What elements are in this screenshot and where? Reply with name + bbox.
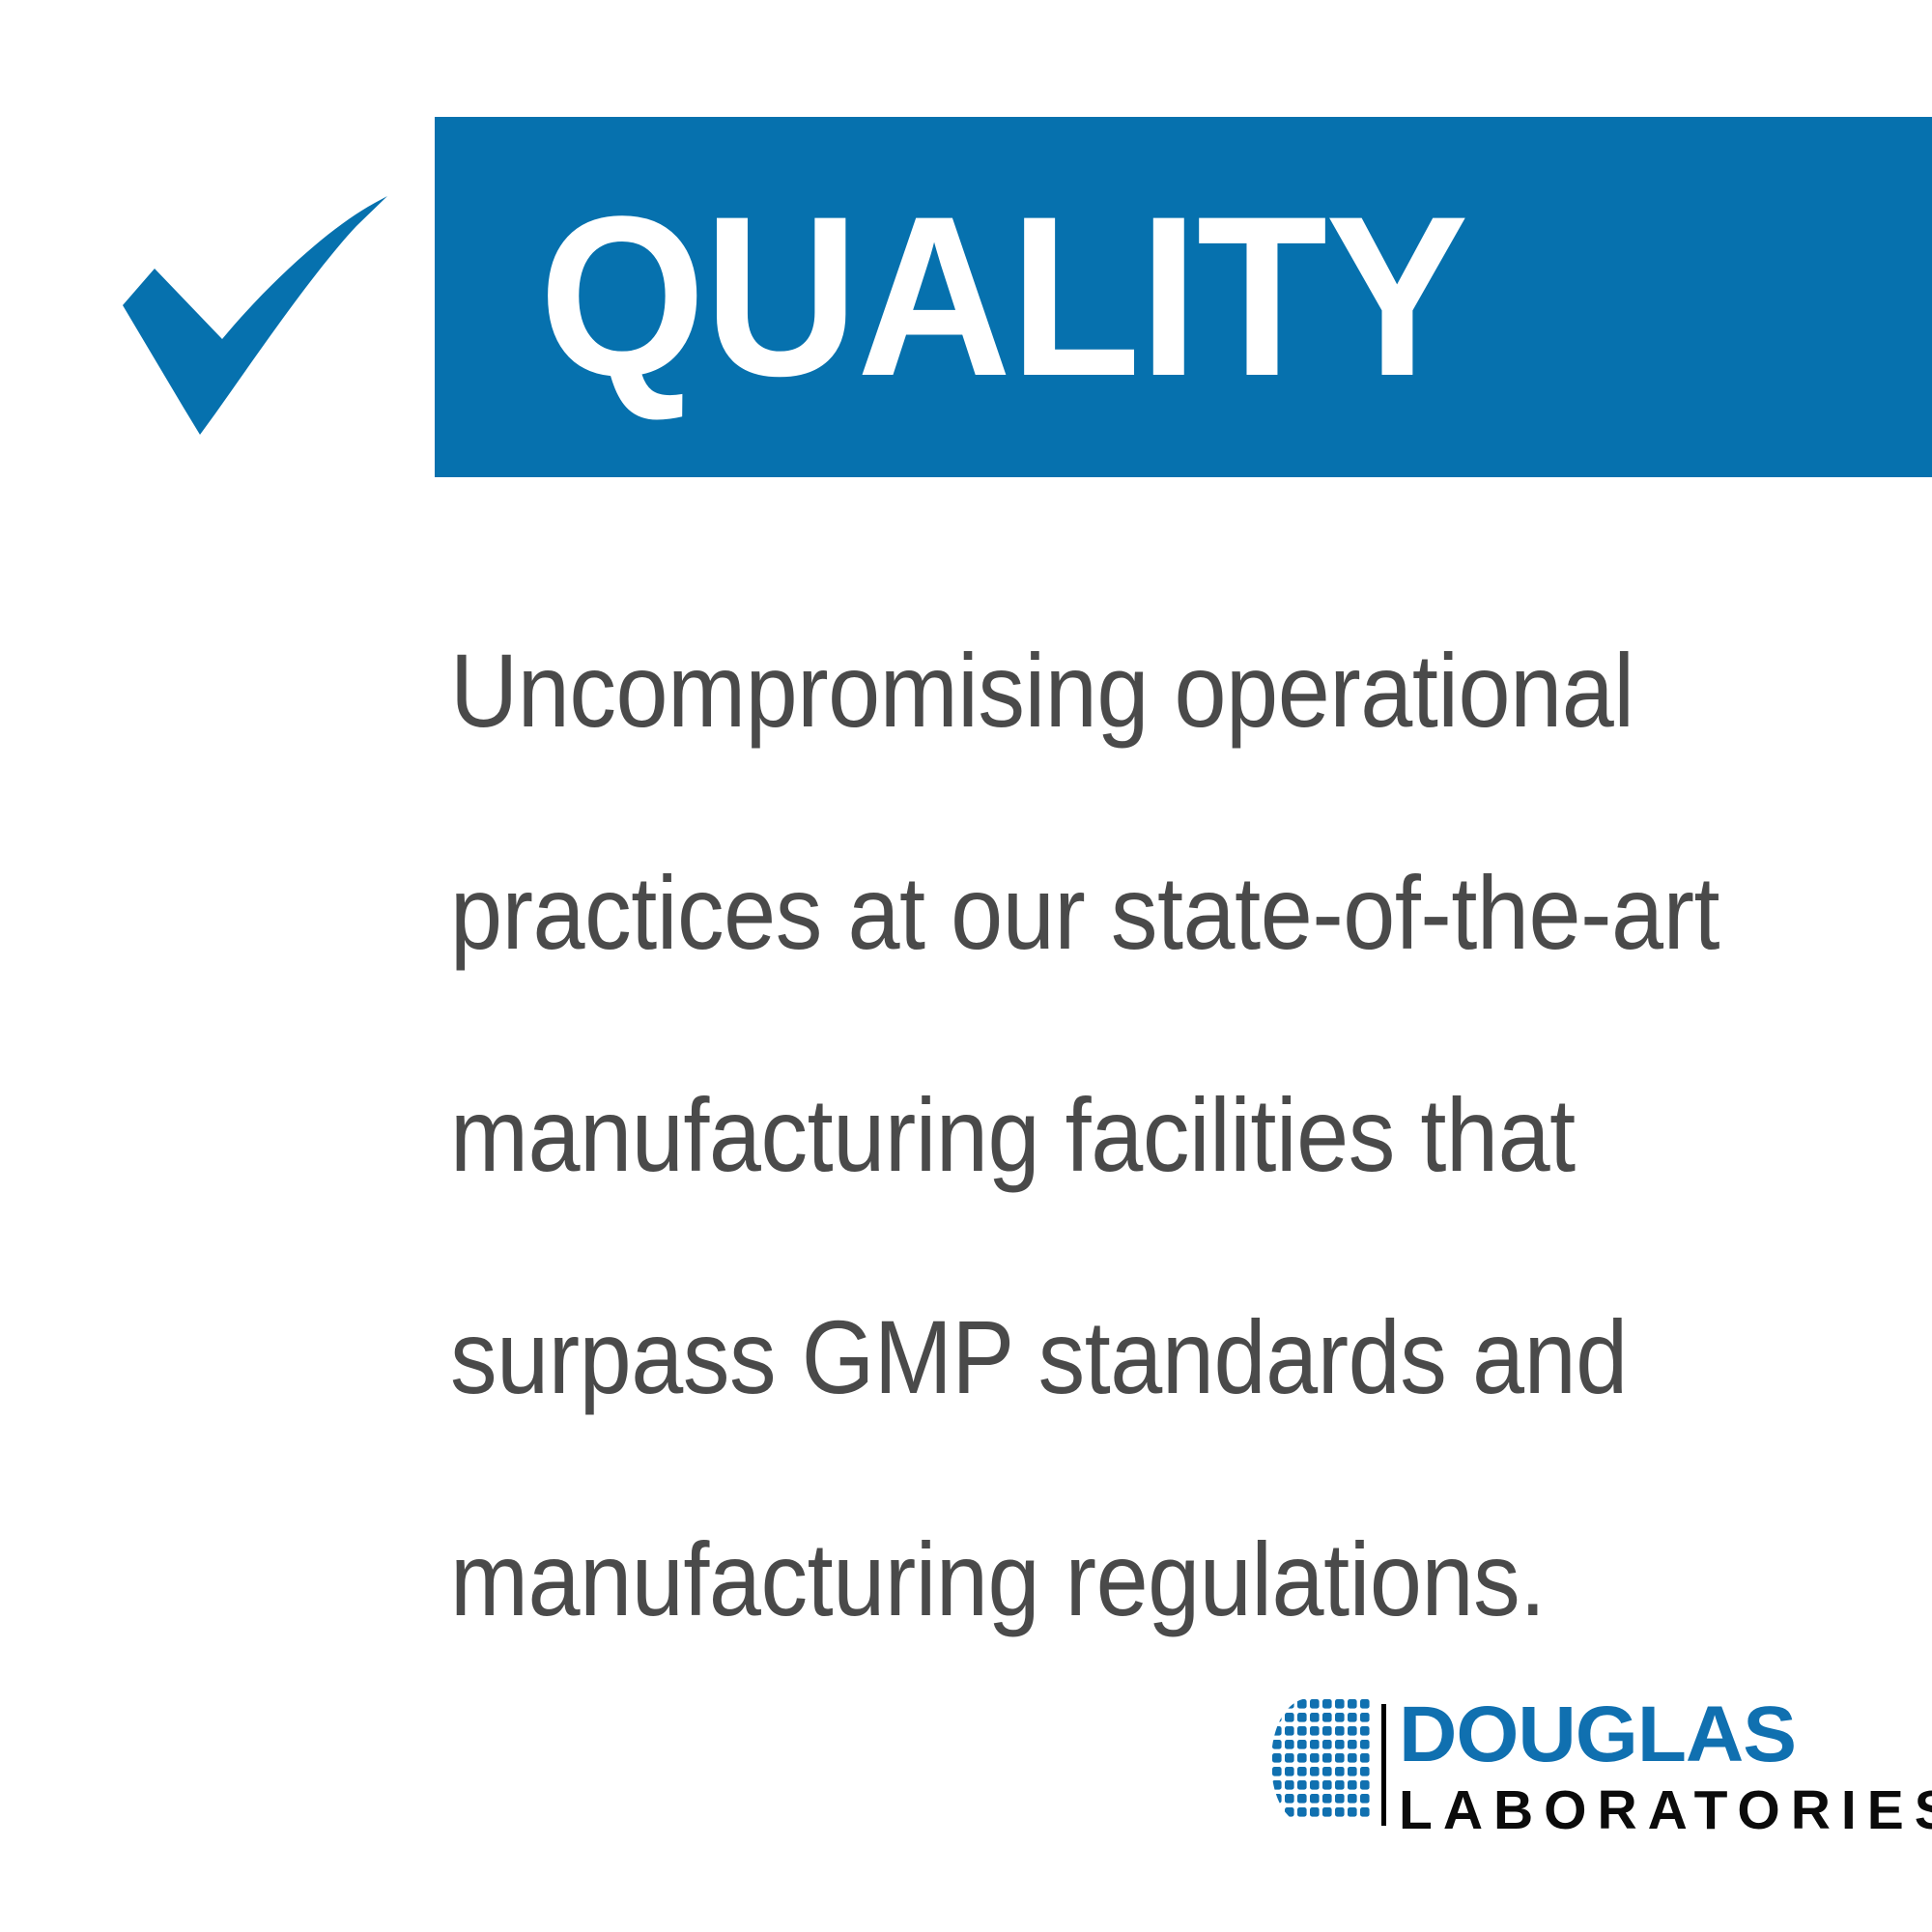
quality-banner: QUALITY <box>435 117 1932 477</box>
logo-wordmark: DOUGLAS LABORATORIES® <box>1399 1698 1932 1838</box>
body-line-3: manufacturing facilities that <box>450 1024 1711 1246</box>
body-copy: Uncompromising operational practices at … <box>450 580 1851 1690</box>
douglas-grid-mark-icon <box>1271 1698 1372 1826</box>
logo-secondary-text: LABORATORIES® <box>1399 1774 1932 1840</box>
body-line-4: surpass GMP standards and <box>450 1246 1711 1468</box>
douglas-laboratories-logo: DOUGLAS LABORATORIES® <box>1271 1698 1909 1838</box>
logo-primary-text: DOUGLAS <box>1399 1698 1932 1772</box>
body-line-1: Uncompromising operational <box>450 580 1711 802</box>
body-line-5: manufacturing regulations. <box>450 1468 1711 1690</box>
logo-secondary-label: LABORATORIES <box>1399 1779 1932 1841</box>
page-title: QUALITY <box>539 197 1466 398</box>
quality-infographic-card: QUALITY Uncompromising operational pract… <box>0 0 1932 1932</box>
body-line-2: practices at our state-of-the-art <box>450 802 1711 1024</box>
checkmark-icon <box>101 155 401 435</box>
logo-divider <box>1381 1704 1386 1826</box>
